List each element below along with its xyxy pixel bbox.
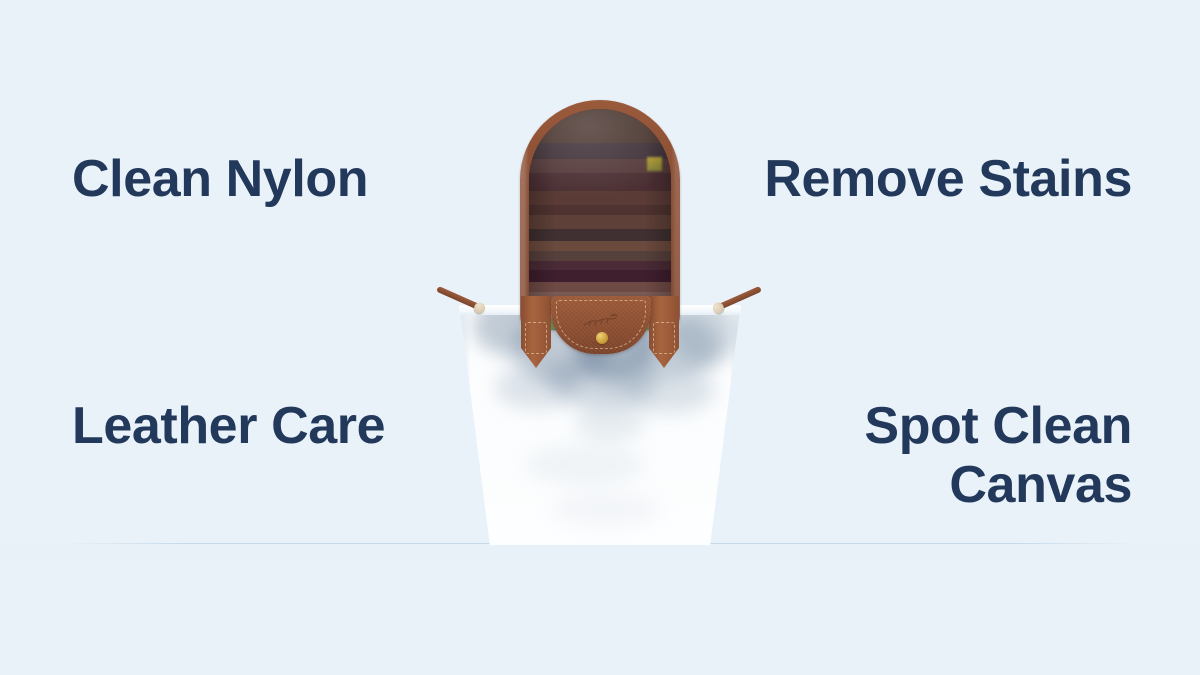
jockey-logo-icon: [581, 312, 623, 328]
arch-stripe: [529, 251, 671, 261]
arch-stripe: [529, 229, 671, 241]
arch-stripe: [529, 261, 671, 270]
arch-stripe: [529, 191, 671, 205]
strap-stitching-right: [653, 322, 675, 354]
label-remove-stains: Remove Stains: [764, 150, 1132, 209]
glitch-yellow-patch: [647, 157, 662, 171]
arch-stripe: [529, 109, 671, 143]
label-clean-nylon: Clean Nylon: [72, 150, 368, 209]
arch-stripe: [529, 205, 671, 215]
arch-stripe: [529, 173, 671, 191]
infographic-canvas: Clean Nylon Remove Stains Leather Care S…: [0, 0, 1200, 675]
label-spot-clean-canvas: Spot Clean Canvas: [832, 397, 1132, 515]
strap-stitching-left: [525, 322, 547, 354]
surface-wash: [0, 544, 1200, 675]
tote-bag-image: [415, 100, 785, 550]
arch-stripe: [529, 282, 671, 292]
label-leather-care: Leather Care: [72, 397, 385, 456]
gold-snap-button: [596, 332, 608, 344]
arch-stripe: [529, 270, 671, 282]
arch-stripe: [529, 241, 671, 251]
arch-stripe: [529, 215, 671, 229]
